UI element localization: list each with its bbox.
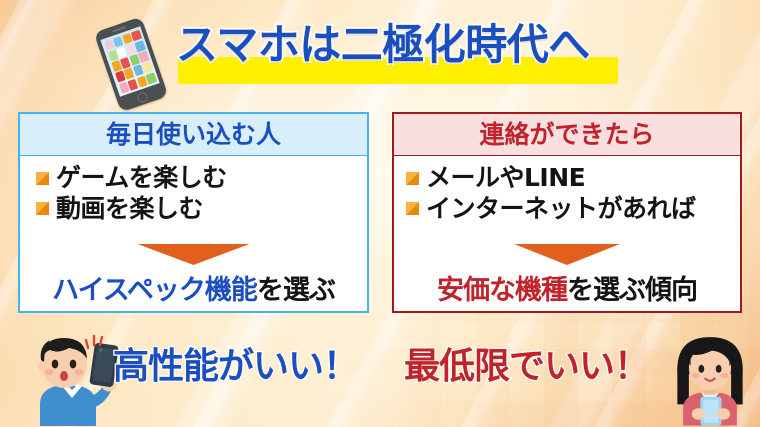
list-item: メールやLINE [406, 163, 740, 194]
list-item-label: インターネットがあれば [426, 194, 696, 225]
conclusion-rest: を選ぶ [257, 275, 335, 306]
panel-light-users: 連絡ができたら メールやLINE インターネットがあれば 安価な機種を選ぶ傾向 [392, 112, 742, 313]
infographic-slide: スマホは二極化時代へ 毎日使い込む人 ゲームを楽しむ 動画を楽しむ ハイスペック… [0, 0, 760, 427]
panel-header-light-users: 連絡ができたら [394, 114, 740, 156]
man-with-smartphone-illustration [22, 326, 122, 426]
bullet-square-icon [36, 202, 49, 215]
down-arrow-icon [514, 244, 620, 265]
page-title: スマホは二極化時代へ [176, 24, 636, 66]
list-item-label: ゲームを楽しむ [56, 163, 227, 194]
bottom-left-caption: 高性能がいい！ [113, 349, 358, 385]
list-item: 動画を楽しむ [36, 194, 367, 225]
bottom-right-caption: 最低限でいい！ [404, 349, 649, 385]
smartphone-body [94, 16, 169, 112]
conclusion-rest: を選ぶ傾向 [567, 275, 697, 306]
panel-header-heavy-users: 毎日使い込む人 [20, 114, 367, 156]
list-item: ゲームを楽しむ [36, 163, 367, 194]
smartphone-home-button [136, 91, 149, 104]
panel-body-light-users: メールやLINE インターネットがあれば 安価な機種を選ぶ傾向 [394, 156, 740, 311]
bullet-square-icon [406, 172, 419, 185]
woman-with-smartphone-illustration [662, 328, 758, 427]
list-item-label: メールやLINE [426, 163, 585, 194]
conclusion-heavy-users: ハイスペック機能を選ぶ [20, 276, 367, 306]
bullet-square-icon [36, 172, 49, 185]
title-row: スマホは二極化時代へ [0, 8, 760, 104]
list-item: インターネットがあれば [406, 194, 740, 225]
bullet-square-icon [406, 202, 419, 215]
list-item-label: 動画を楽しむ [56, 194, 203, 225]
conclusion-light-users: 安価な機種を選ぶ傾向 [394, 276, 740, 306]
conclusion-highlight: 安価な機種 [437, 275, 567, 306]
bullet-list-heavy-users: ゲームを楽しむ 動画を楽しむ [20, 163, 367, 224]
down-arrow-icon [138, 244, 250, 265]
conclusion-highlight: ハイスペック機能 [52, 275, 257, 306]
panel-heavy-users: 毎日使い込む人 ゲームを楽しむ 動画を楽しむ ハイスペック機能を選ぶ [18, 112, 369, 313]
bullet-list-light-users: メールやLINE インターネットがあれば [394, 163, 740, 224]
smartphone-icon [84, 13, 179, 116]
panel-body-heavy-users: ゲームを楽しむ 動画を楽しむ ハイスペック機能を選ぶ [20, 156, 367, 311]
smartphone-screen [100, 26, 159, 96]
